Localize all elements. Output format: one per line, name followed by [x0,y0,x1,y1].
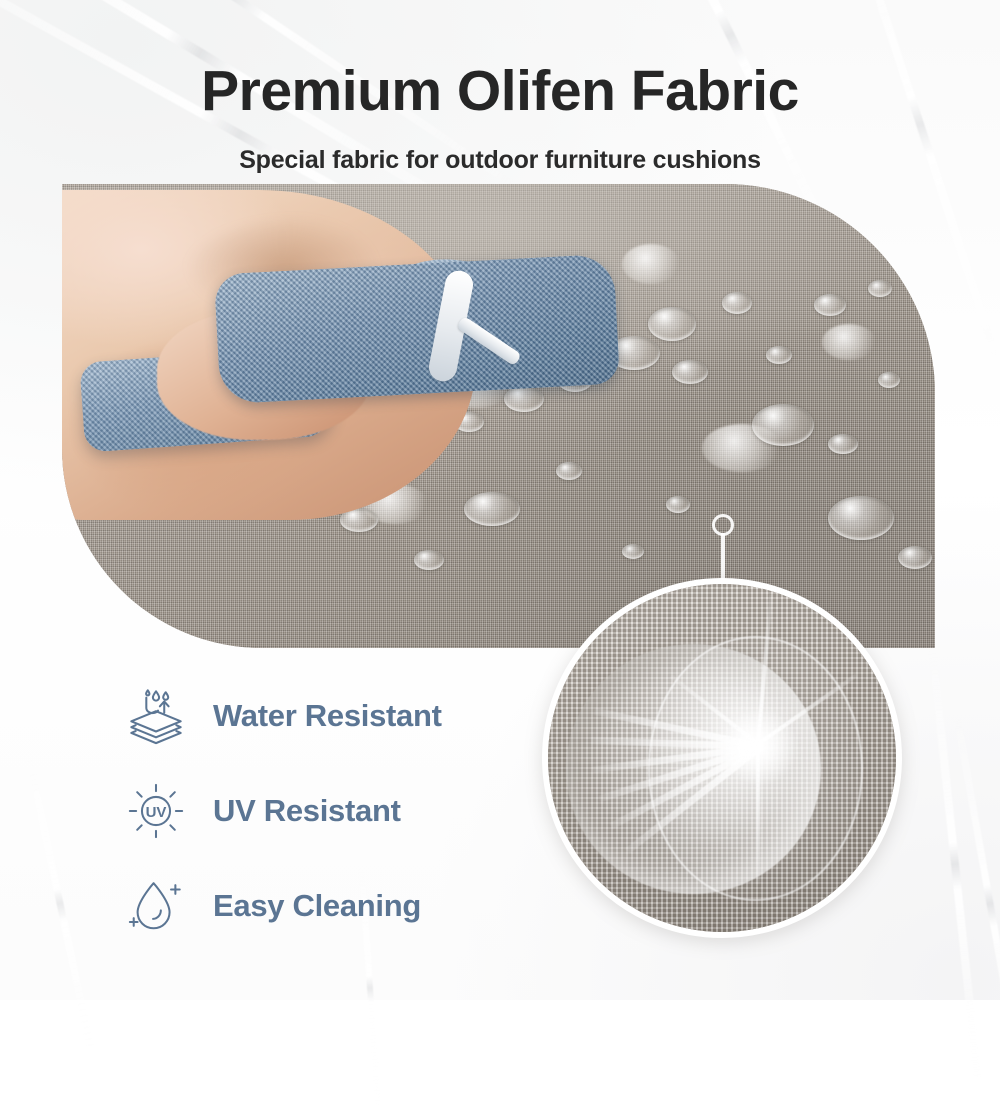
water-bead [752,404,814,446]
water-bead [414,550,444,570]
water-bead [898,546,932,569]
page-title: Premium Olifen Fabric [0,58,1000,124]
water-bead [828,434,858,454]
water-bead [556,462,582,480]
blue-microfiber-cloth [214,254,620,405]
water-bead [666,496,690,513]
feature-list: Water Resistant UV UV Resistant Easy Cle… [125,668,525,953]
droplet-closeup [542,578,902,938]
feature-label: UV Resistant [213,793,401,829]
water-bead [504,386,544,412]
page-subtitle: Special fabric for outdoor furniture cus… [0,146,1000,175]
water-bead [672,360,708,384]
water-splat [822,324,876,360]
feature-easy-cleaning: Easy Cleaning [125,858,525,953]
feature-uv-resistant: UV UV Resistant [125,763,525,858]
water-bead [648,307,696,341]
water-bead [828,496,894,540]
water-bead [868,280,892,297]
water-bead [878,372,900,388]
water-bead [464,492,520,526]
feature-water-resistant: Water Resistant [125,668,525,763]
water-bead [766,346,792,364]
magnifier-leader-line [721,533,725,581]
water-bead [814,294,846,316]
sparkle-highlight [720,708,798,786]
water-splat [622,244,680,284]
uv-icon-text: UV [146,804,167,821]
fabric-wipe-photo [62,184,935,648]
water-bead [622,544,644,559]
feature-label: Easy Cleaning [213,888,421,924]
sparkling-droplet-icon [125,875,187,937]
water-bead [722,292,752,314]
water-drops-on-layers-icon [125,685,187,747]
water-bead [888,250,906,263]
feature-label: Water Resistant [213,698,442,734]
uv-sun-icon: UV [125,780,187,842]
